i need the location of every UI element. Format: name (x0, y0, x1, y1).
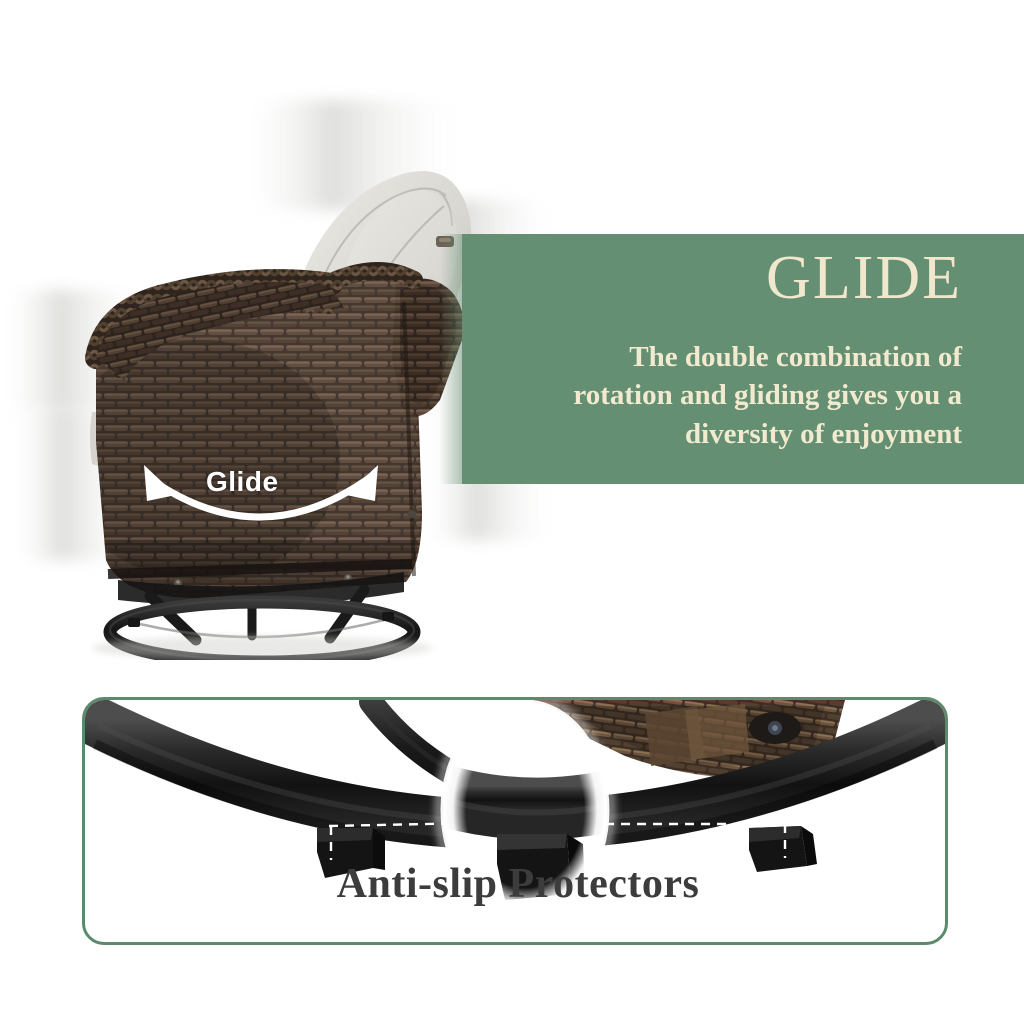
anti-slip-caption: Anti-slip Protectors (85, 860, 948, 908)
glide-feature-section: GLIDE The double combination of rotation… (0, 0, 1024, 660)
glide-description: The double combination of rotation and g… (470, 338, 962, 453)
anti-slip-feature-panel: Anti-slip Protectors (82, 697, 948, 945)
glide-description-line-1: The double combination of (470, 338, 962, 376)
glide-description-line-2: rotation and gliding gives you a (470, 376, 962, 414)
glide-arrow-label: Glide (206, 466, 279, 498)
product-infographic: GLIDE The double combination of rotation… (0, 0, 1024, 1024)
frame-rivet (408, 510, 416, 518)
glide-description-line-3: diversity of enjoyment (470, 415, 962, 453)
glide-heading: GLIDE (500, 246, 962, 311)
floor-shadow (92, 636, 432, 660)
